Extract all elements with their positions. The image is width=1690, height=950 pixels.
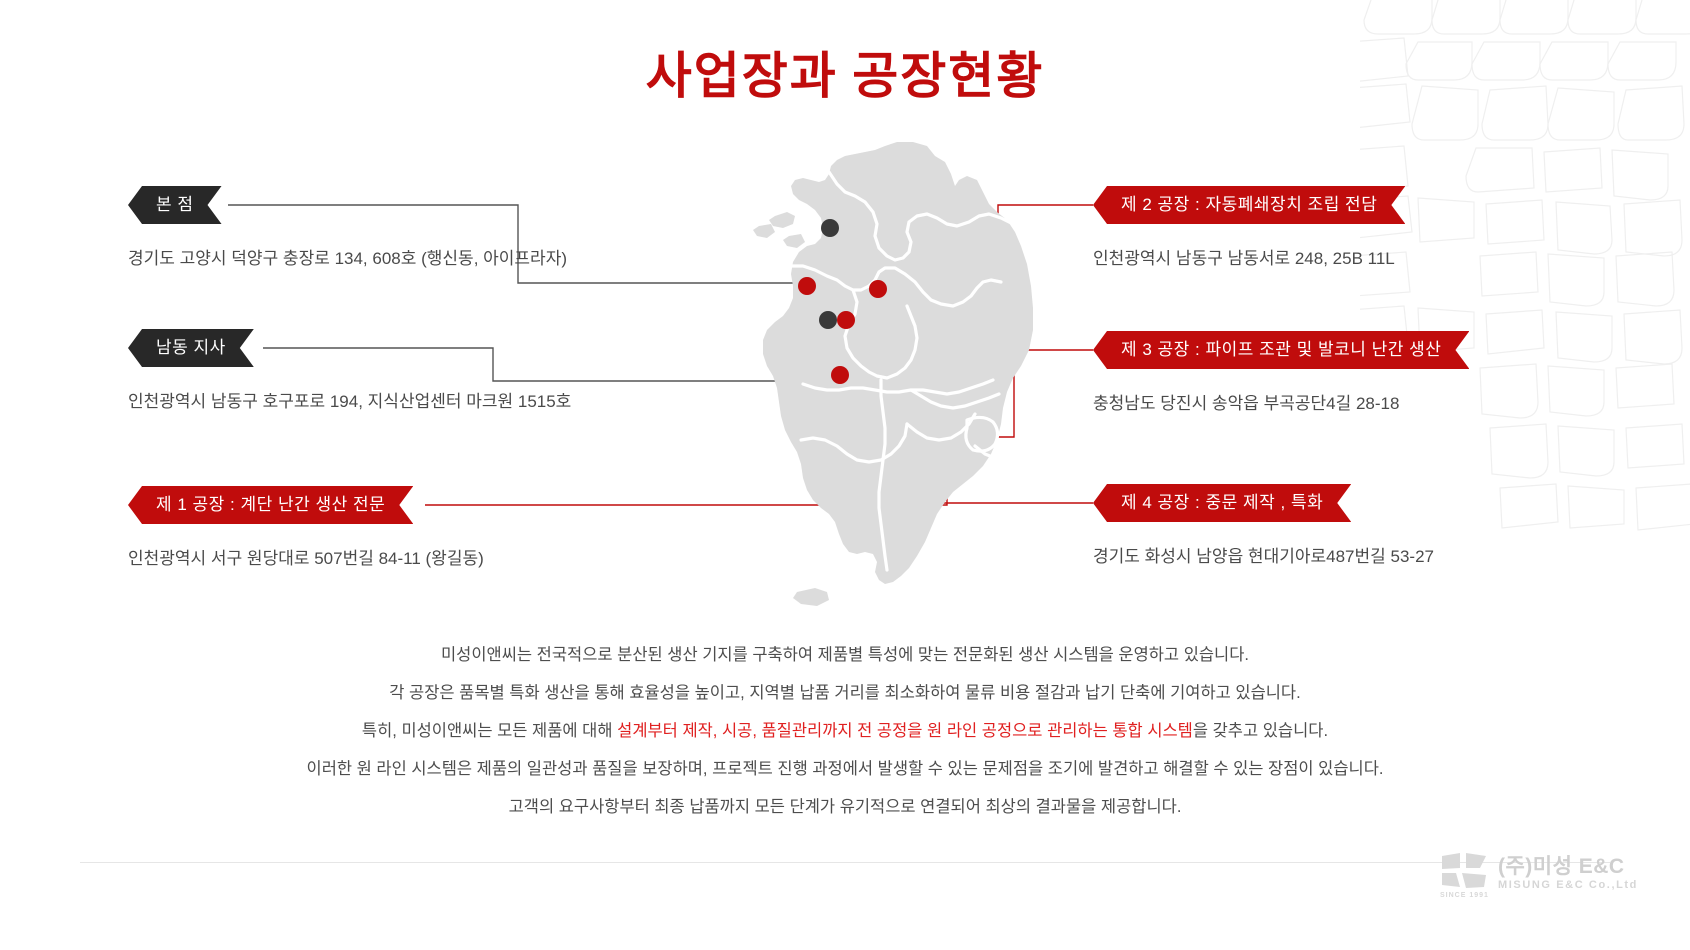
address-factory-2: 인천광역시 남동구 남동서로 248, 25B 11L — [1093, 244, 1405, 269]
info-block-factory-4: 제 4 공장 : 중문 제작 , 특화 경기도 화성시 남양읍 현대기아로487… — [1093, 484, 1434, 567]
description-block: 미성이앤씨는 전국적으로 분산된 생산 기지를 구축하여 제품별 특성에 맞는 … — [0, 636, 1690, 826]
info-block-factory-3: 제 3 공장 : 파이프 조관 및 발코니 난간 생산 충청남도 당진시 송악읍… — [1093, 331, 1469, 414]
address-headquarters: 경기도 고양시 덕양구 충장로 134, 608호 (행신동, 아이프라자) — [128, 244, 567, 269]
address-factory-4: 경기도 화성시 남양읍 현대기아로487번길 53-27 — [1093, 542, 1434, 567]
factory-3-marker[interactable] — [831, 366, 849, 384]
badge-factory-1[interactable]: 제 1 공장 : 계단 난간 생산 전문 — [128, 486, 413, 524]
description-line-3-highlight: 설계부터 제작, 시공, 품질관리까지 전 공정을 원 라인 공정으로 관리하는… — [617, 722, 1193, 740]
info-block-namdong-branch: 남동 지사 인천광역시 남동구 호구포로 194, 지식산업센터 마크원 151… — [128, 329, 571, 412]
factory-1-marker[interactable] — [798, 277, 816, 295]
address-factory-3: 충청남도 당진시 송악읍 부곡공단4길 28-18 — [1093, 389, 1469, 414]
address-factory-1: 인천광역시 서구 원당대로 507번길 84-11 (왕길동) — [128, 544, 484, 569]
badge-headquarters[interactable]: 본 점 — [128, 186, 222, 224]
badge-namdong-branch[interactable]: 남동 지사 — [128, 329, 254, 367]
description-line-3-pre: 특히, 미성이앤씨는 모든 제품에 대해 — [362, 722, 617, 740]
logo-mark-icon: SINCE 1991 — [1440, 851, 1488, 897]
info-block-factory-2: 제 2 공장 : 자동폐쇄장치 조립 전담 인천광역시 남동구 남동서로 248… — [1093, 186, 1405, 269]
logo-since-text: SINCE 1991 — [1440, 892, 1489, 899]
factory-2-marker[interactable] — [837, 311, 855, 329]
description-line-4: 이러한 원 라인 시스템은 제품의 일관성과 품질을 보장하며, 프로젝트 진행… — [0, 750, 1690, 788]
description-line-5: 고객의 요구사항부터 최종 납품까지 모든 단계가 유기적으로 연결되어 최상의… — [0, 788, 1690, 826]
description-line-3-post: 을 갖추고 있습니다. — [1193, 722, 1328, 740]
page-title: 사업장과 공장현황 — [0, 36, 1690, 108]
korea-map — [745, 140, 1045, 610]
logo-name-ko: (주)미성 E&C — [1498, 856, 1638, 878]
badge-factory-2[interactable]: 제 2 공장 : 자동폐쇄장치 조립 전담 — [1093, 186, 1405, 224]
badge-factory-4[interactable]: 제 4 공장 : 중문 제작 , 특화 — [1093, 484, 1351, 522]
headquarters-marker[interactable] — [821, 219, 839, 237]
info-block-factory-1: 제 1 공장 : 계단 난간 생산 전문 인천광역시 서구 원당대로 507번길… — [128, 486, 484, 569]
map-markers — [745, 140, 1045, 610]
badge-factory-3[interactable]: 제 3 공장 : 파이프 조관 및 발코니 난간 생산 — [1093, 331, 1469, 369]
description-line-2: 각 공장은 품목별 특화 생산을 통해 효율성을 높이고, 지역별 납품 거리를… — [0, 674, 1690, 712]
logo-text-group: (주)미성 E&C MISUNG E&C Co.,Ltd — [1498, 856, 1638, 892]
address-namdong-branch: 인천광역시 남동구 호구포로 194, 지식산업센터 마크원 1515호 — [128, 387, 571, 412]
info-block-headquarters: 본 점 경기도 고양시 덕양구 충장로 134, 608호 (행신동, 아이프라… — [128, 186, 567, 269]
description-line-3: 특히, 미성이앤씨는 모든 제품에 대해 설계부터 제작, 시공, 품질관리까지… — [0, 712, 1690, 750]
logo-name-en: MISUNG E&C Co.,Ltd — [1498, 878, 1638, 892]
factory-4-marker[interactable] — [869, 280, 887, 298]
description-line-1: 미성이앤씨는 전국적으로 분산된 생산 기지를 구축하여 제품별 특성에 맞는 … — [0, 636, 1690, 674]
slide-root: 사업장과 공장현황 — [0, 0, 1690, 950]
namdong-branch-marker[interactable] — [819, 311, 837, 329]
footer-divider — [80, 862, 1610, 863]
company-logo: SINCE 1991 (주)미성 E&C MISUNG E&C Co.,Ltd — [1440, 848, 1638, 900]
